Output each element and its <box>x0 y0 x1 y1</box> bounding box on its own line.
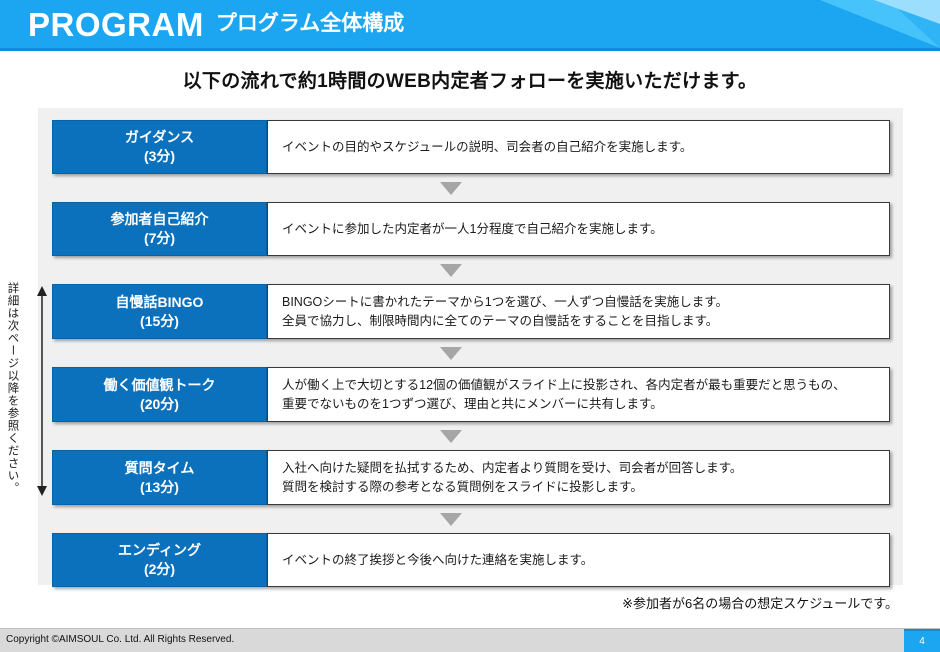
program-row-name: 自慢話BINGO <box>116 293 204 312</box>
program-row-label: エンディング (2分) <box>52 533 267 587</box>
description-line: 入社へ向けた疑問を払拭するため、内定者より質問を受け、司会者が回答します。 <box>282 459 875 478</box>
program-rows: ガイダンス (3分) イベントの目的やスケジュールの説明、司会者の自己紹介を実施… <box>52 120 890 587</box>
program-row-duration: (20分) <box>140 395 179 414</box>
program-row-name: 質問タイム <box>125 459 195 478</box>
program-row-description: イベントの終了挨拶と今後へ向けた連絡を実施します。 <box>267 533 890 587</box>
program-row-description: BINGOシートに書かれたテーマから1つを選び、一人ずつ自慢話を実施します。 全… <box>267 284 890 339</box>
program-row-duration: (15分) <box>140 312 179 331</box>
triangle-down-icon <box>440 264 462 277</box>
program-row-name: エンディング <box>118 541 201 560</box>
header-title-jp: プログラム全体構成 <box>216 13 404 36</box>
description-line: イベントの終了挨拶と今後へ向けた連絡を実施します。 <box>282 551 875 570</box>
row-connector <box>32 174 870 202</box>
description-line: 人が働く上で大切とする12個の価値観がスライド上に投影され、各内定者が最も重要だ… <box>282 376 875 395</box>
program-row-label: 働く価値観トーク (20分) <box>52 367 267 422</box>
program-row-name: ガイダンス <box>125 128 194 147</box>
program-row-label: 参加者自己紹介 (7分) <box>52 202 267 256</box>
program-row-description: イベントの目的やスケジュールの説明、司会者の自己紹介を実施します。 <box>267 120 890 174</box>
program-row-description: 人が働く上で大切とする12個の価値観がスライド上に投影され、各内定者が最も重要だ… <box>267 367 890 422</box>
description-line: 質問を検討する際の参考となる質問例をスライドに投影します。 <box>282 478 875 497</box>
description-line: 全員で協力し、制限時間内に全てのテーマの自慢話をすることを目指します。 <box>282 312 875 331</box>
program-row[interactable]: 自慢話BINGO (15分) BINGOシートに書かれたテーマから1つを選び、一… <box>52 284 890 339</box>
program-row-description: 入社へ向けた疑問を払拭するため、内定者より質問を受け、司会者が回答します。 質問… <box>267 450 890 505</box>
program-row-label: ガイダンス (3分) <box>52 120 267 174</box>
header-title-en: PROGRAM <box>28 8 204 41</box>
header-underline <box>0 48 940 51</box>
program-row-duration: (13分) <box>140 478 179 497</box>
program-row[interactable]: 参加者自己紹介 (7分) イベントに参加した内定者が一人1分程度で自己紹介を実施… <box>52 202 890 256</box>
row-connector <box>32 505 870 533</box>
program-row-duration: (7分) <box>144 229 175 248</box>
row-connector <box>32 256 870 284</box>
description-line: 重要でないものを1つずつ選び、理由と共にメンバーに共有します。 <box>282 395 875 414</box>
program-row[interactable]: ガイダンス (3分) イベントの目的やスケジュールの説明、司会者の自己紹介を実施… <box>52 120 890 174</box>
program-row[interactable]: エンディング (2分) イベントの終了挨拶と今後へ向けた連絡を実施します。 <box>52 533 890 587</box>
program-row-name: 参加者自己紹介 <box>111 210 209 229</box>
page-number-badge: 4 <box>904 629 940 652</box>
program-row[interactable]: 働く価値観トーク (20分) 人が働く上で大切とする12個の価値観がスライド上に… <box>52 367 890 422</box>
program-row-name: 働く価値観トーク <box>104 376 216 395</box>
footnote: ※参加者が6名の場合の想定スケジュールです。 <box>622 593 898 612</box>
program-row-label: 自慢話BINGO (15分) <box>52 284 267 339</box>
page-title: 以下の流れで約1時間のWEB内定者フォローを実施いただけます。 <box>0 66 940 93</box>
double-arrow-icon <box>36 286 48 496</box>
triangle-down-icon <box>440 182 462 195</box>
program-row-duration: (3分) <box>144 147 175 166</box>
side-note: 詳細は次ページ以降を参照ください。 <box>6 276 18 504</box>
program-row-duration: (2分) <box>144 560 175 579</box>
row-connector <box>32 339 870 367</box>
description-line: イベントに参加した内定者が一人1分程度で自己紹介を実施します。 <box>282 220 875 239</box>
header-accent-triangle-light-icon <box>874 0 940 24</box>
row-connector <box>32 422 870 450</box>
slide-footer: Copyright ©AIMSOUL Co. Ltd. All Rights R… <box>0 628 940 652</box>
side-note-label: 詳細は次ページ以降を参照ください。 <box>6 276 18 504</box>
description-line: イベントの目的やスケジュールの説明、司会者の自己紹介を実施します。 <box>282 138 875 157</box>
description-line: BINGOシートに書かれたテーマから1つを選び、一人ずつ自慢話を実施します。 <box>282 293 875 312</box>
triangle-down-icon <box>440 430 462 443</box>
triangle-down-icon <box>440 347 462 360</box>
copyright-text: Copyright ©AIMSOUL Co. Ltd. All Rights R… <box>6 634 234 645</box>
program-row-description: イベントに参加した内定者が一人1分程度で自己紹介を実施します。 <box>267 202 890 256</box>
header-text-group: PROGRAM プログラム全体構成 <box>28 0 404 48</box>
program-row-label: 質問タイム (13分) <box>52 450 267 505</box>
program-row[interactable]: 質問タイム (13分) 入社へ向けた疑問を払拭するため、内定者より質問を受け、司… <box>52 450 890 505</box>
slide-header: PROGRAM プログラム全体構成 <box>0 0 940 48</box>
triangle-down-icon <box>440 513 462 526</box>
